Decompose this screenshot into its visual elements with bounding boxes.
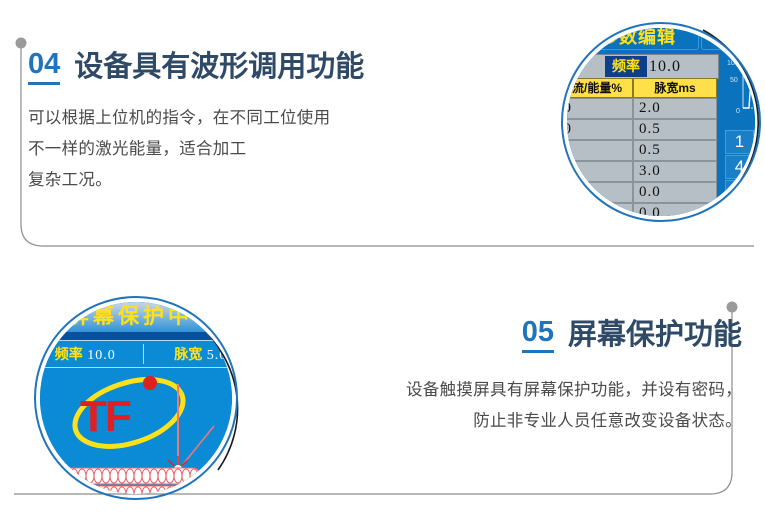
promo-page: 04 设备具有波形调用功能 可以根据上位机的指令，在不同工位使用 不一样的激光能… [0, 0, 765, 528]
frequency-row: 频率 10.0 [567, 54, 719, 79]
table-row[interactable]: 70 2.0 [567, 98, 717, 119]
graph-y-tick-50: 50 [730, 77, 738, 84]
table-row[interactable]: 0 0.0 [567, 203, 717, 216]
keypad-key-4[interactable]: 4 [725, 155, 754, 179]
graph-y-tick-0: 0 [736, 108, 740, 115]
parameter-table: 电流/能量% 脉宽ms 70 2.0 70 0.5 30 0.5 [567, 78, 717, 216]
section-04-number: 04 [28, 50, 60, 85]
section-04-title: 设备具有波形调用功能 [74, 53, 364, 85]
coil-illustration [48, 464, 218, 494]
table-row[interactable]: 30 0.5 [567, 140, 717, 161]
numeric-keypad[interactable]: 1 4 7 [725, 130, 755, 216]
section-04-paragraph-line-1: 可以根据上位机的指令，在不同工位使用 [28, 103, 364, 134]
section-05-paragraph-line-2: 防止非专业人员任意改变设备状态。 [330, 406, 742, 437]
section-04-heading: 04 设备具有波形调用功能 [28, 50, 364, 85]
cell-pulsewidth[interactable]: 0.0 [633, 203, 717, 216]
cell-pulsewidth[interactable]: 0.5 [633, 119, 717, 140]
section-04-paragraph-line-3: 复杂工况。 [28, 165, 364, 196]
section-04: 04 设备具有波形调用功能 可以根据上位机的指令，在不同工位使用 不一样的激光能… [28, 50, 364, 196]
photo-clip: 参数编辑 频率 10.0 电流/能量% 脉宽ms 70 2.0 [567, 28, 755, 216]
column-header-current: 电流/能量% [567, 78, 633, 98]
section-05: 05 屏幕保护功能 设备触摸屏具有屏幕保护功能，并设有密码， 防止非专业人员任意… [330, 318, 742, 437]
param-edit-screen-photo: 参数编辑 频率 10.0 电流/能量% 脉宽ms 70 2.0 [555, 8, 765, 248]
section-05-title: 屏幕保护功能 [568, 321, 742, 353]
table-header-row: 电流/能量% 脉宽ms [567, 78, 717, 98]
param-edit-ui: 参数编辑 频率 10.0 电流/能量% 脉宽ms 70 2.0 [567, 28, 755, 216]
photo-clip: 屏幕保护中！ 频率 10.0 脉宽 5.0 [40, 302, 232, 494]
table-row[interactable]: 30 3.0 [567, 161, 717, 182]
cell-current[interactable]: 0 [567, 182, 633, 203]
screen-saver-ui: 屏幕保护中！ 频率 10.0 脉宽 5.0 [40, 302, 232, 494]
window-title: 参数编辑 [577, 28, 699, 50]
cell-current[interactable]: 70 [567, 119, 633, 140]
keypad-key-7[interactable]: 7 [725, 180, 754, 204]
cell-current[interactable]: 30 [567, 140, 633, 161]
cell-current[interactable]: 0 [567, 203, 633, 216]
cell-pulsewidth[interactable]: 0.0 [633, 182, 717, 203]
cell-current[interactable]: 70 [567, 98, 633, 119]
column-header-pulsewidth: 脉宽ms [633, 78, 717, 98]
frequency-label: 频率 [605, 56, 647, 77]
cell-current[interactable]: 30 [567, 161, 633, 182]
keypad-key-extra-1[interactable] [725, 205, 754, 216]
section-05-number: 05 [522, 318, 554, 353]
screen-saver-photo: 屏幕保护中！ 频率 10.0 脉宽 5.0 [26, 284, 250, 524]
section-04-paragraph-line-2: 不一样的激光能量，适合加工 [28, 134, 364, 165]
section-05-heading: 05 屏幕保护功能 [330, 318, 742, 353]
window-title-secondary [701, 28, 749, 50]
frequency-value[interactable]: 10.0 [649, 56, 681, 77]
table-row[interactable]: 70 0.5 [567, 119, 717, 140]
table-row[interactable]: 0 0.0 [567, 182, 717, 203]
keypad-key-1[interactable]: 1 [725, 130, 754, 154]
waveform-graph: 100 50 0 5 [725, 60, 755, 120]
section-05-paragraph-line-1: 设备触摸屏具有屏幕保护功能，并设有密码， [330, 375, 742, 406]
cell-pulsewidth[interactable]: 0.5 [633, 140, 717, 161]
graph-y-tick-100: 100 [727, 60, 739, 67]
cell-pulsewidth[interactable]: 2.0 [633, 98, 717, 119]
cell-pulsewidth[interactable]: 3.0 [633, 161, 717, 182]
